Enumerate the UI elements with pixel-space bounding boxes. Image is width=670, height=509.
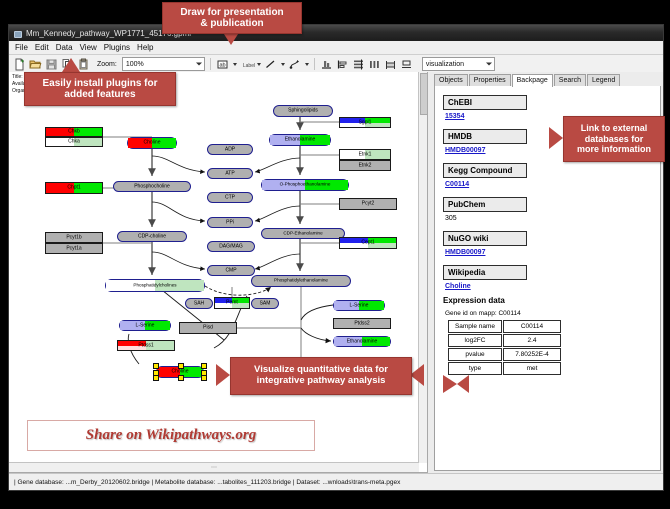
- chevron-down-icon: [196, 63, 202, 66]
- menu-item-data[interactable]: Data: [56, 43, 73, 52]
- db-link-wikipedia[interactable]: Choline: [445, 283, 656, 290]
- row-value: met: [503, 362, 561, 375]
- node-label: DAG/MAG: [208, 244, 254, 249]
- node-fill-segment: [262, 180, 305, 190]
- expression-data-heading: Expression data: [443, 296, 656, 305]
- node-fill-segment: [359, 301, 384, 310]
- node-label: Sphingolipids: [274, 109, 332, 114]
- side-panel-tabs: Objects Properties Backpage Search Legen…: [434, 73, 661, 87]
- callout-visualize-arrow-right-icon: [410, 364, 424, 386]
- tab-legend[interactable]: Legend: [587, 74, 620, 86]
- menu-item-edit[interactable]: Edit: [35, 43, 49, 52]
- save-icon[interactable]: [45, 58, 58, 71]
- zoom-value: 100%: [126, 61, 144, 68]
- db-title-hmdb: HMDB: [443, 129, 527, 144]
- zoom-label: Zoom:: [97, 61, 117, 68]
- gene-node-pcyt2[interactable]: Pcyt2: [339, 198, 397, 210]
- gene-node-pcytlb[interactable]: Pcyt1b: [45, 232, 103, 243]
- node-label: Ptdss2: [334, 321, 390, 326]
- row-key: pvalue: [448, 348, 502, 361]
- metabolite-node-sah[interactable]: SAH: [185, 298, 213, 309]
- metabolite-node-phosphatidylcholines[interactable]: Phosphatidylcholines: [105, 279, 205, 292]
- gene-node-ptdss1[interactable]: Ptdss1: [117, 340, 175, 351]
- align-left-icon[interactable]: [336, 58, 349, 71]
- node-fill-segment: [300, 135, 330, 145]
- svg-text:Label: Label: [243, 63, 255, 69]
- metabolite-node-sphingolipids[interactable]: Sphingolipids: [273, 105, 333, 117]
- callout-draw-line1: Draw for presentation: [180, 7, 283, 19]
- table-row: log2FC 2.4: [448, 334, 561, 347]
- scroll-thumb[interactable]: [420, 73, 428, 115]
- node-fill-segment: [340, 243, 368, 248]
- toolbar-separator: [210, 58, 211, 70]
- row-value: C00114: [503, 320, 561, 333]
- node-fill-segment: [106, 280, 155, 291]
- zoom-combo[interactable]: 100%: [122, 57, 205, 71]
- node-fill-segment: [128, 138, 152, 148]
- callout-draw: Draw for presentation & publication: [162, 2, 302, 34]
- db-value-pubchem: 305: [445, 215, 656, 222]
- chevron-down-icon[interactable]: [281, 63, 285, 66]
- gene-node-pcytla[interactable]: Pcyt1a: [45, 243, 103, 254]
- metabolite-node-dagdag[interactable]: DAG/MAG: [207, 241, 255, 252]
- callout-link: Link to external databases for more info…: [563, 116, 665, 162]
- tab-properties[interactable]: Properties: [469, 74, 511, 86]
- metabolite-node-ctp[interactable]: CTP: [207, 192, 253, 203]
- gene-node-sgpl1[interactable]: Sgpl1: [339, 117, 391, 128]
- node-fill-segment: [157, 367, 180, 377]
- node-label: CTP: [208, 195, 252, 200]
- node-label: PPi: [208, 220, 252, 225]
- node-fill-segment: [46, 128, 74, 136]
- node-fill-segment: [232, 303, 249, 308]
- backpage-entry-kegg: Kegg Compound C00114: [443, 160, 656, 188]
- node-label: Etnk2: [340, 163, 390, 168]
- callout-visualize-arrow-left-icon: [216, 364, 230, 386]
- callout-draw-line2: & publication: [200, 18, 263, 30]
- label-button[interactable]: Label: [240, 58, 253, 71]
- node-fill-segment: [152, 138, 176, 148]
- node-fill-segment: [368, 243, 396, 248]
- callout-link-line1: Link to external: [581, 123, 648, 133]
- expression-data-table: Sample name C00114 log2FC 2.4 pvalue 7.8…: [447, 319, 562, 376]
- gene-node-chkb[interactable]: Chkb: [45, 127, 103, 137]
- title-bar: Mm_Kennedy_pathway_WP1771_45176.gpml: [9, 25, 663, 41]
- gene-node-ptdss2[interactable]: Ptdss2: [333, 318, 391, 329]
- metabolite-node-sam[interactable]: SAM: [251, 298, 279, 309]
- metabolite-node-ethanolamine-right[interactable]: Ethanolamine: [333, 336, 391, 347]
- node-label: Pcyt1b: [46, 235, 102, 240]
- callout-visualize-line2: integrative pathway analysis: [257, 376, 386, 387]
- canvas-vertical-scrollbar[interactable]: [418, 72, 427, 463]
- tab-objects[interactable]: Objects: [434, 74, 468, 86]
- metabolite-node-phosphatidylethanolamine[interactable]: Phosphatidylethanolamine: [251, 275, 351, 287]
- db-title-nugo: NuGO wiki: [443, 231, 527, 246]
- row-value: 7.80252E-4: [503, 348, 561, 361]
- menu-item-view[interactable]: View: [80, 43, 97, 52]
- node-label: ADP: [208, 147, 252, 152]
- metabolite-node-cdp-ethanolamine[interactable]: CDP-Ethanolamine: [261, 228, 345, 239]
- gene-node-pemt[interactable]: Pemt: [214, 297, 250, 309]
- chevron-down-icon: [486, 63, 492, 66]
- gene-node-cept1[interactable]: Cept1: [339, 237, 397, 249]
- pathway-canvas-panel[interactable]: Title: Availa Organi: [9, 72, 428, 473]
- db-title-chebi: ChEBI: [443, 95, 527, 110]
- node-label: CMP: [208, 268, 254, 273]
- new-file-icon[interactable]: [13, 58, 26, 71]
- node-fill-segment: [334, 301, 359, 310]
- metabolite-node-choline-top[interactable]: Choline: [127, 137, 177, 149]
- gene-node-etnk1[interactable]: Etnk1: [339, 149, 391, 160]
- row-key: type: [448, 362, 502, 375]
- row-key: Sample name: [448, 320, 502, 333]
- db-title-kegg: Kegg Compound: [443, 163, 527, 178]
- node-label: Phosphatidylethanolamine: [252, 279, 350, 284]
- interaction-icon[interactable]: [288, 58, 301, 71]
- chevron-down-icon[interactable]: [305, 63, 309, 66]
- selection-handle[interactable]: [178, 375, 184, 381]
- screenshot-root: Mm_Kennedy_pathway_WP1771_45176.gpml Fil…: [0, 0, 670, 509]
- db-link-nugo[interactable]: HMDB00097: [445, 249, 656, 256]
- distribute-icon[interactable]: [368, 58, 381, 71]
- db-title-wikipedia: Wikipedia: [443, 265, 527, 280]
- db-title-pubchem: PubChem: [443, 197, 527, 212]
- metabolite-node-l-serine-right[interactable]: L-Serine: [333, 300, 385, 311]
- node-fill-segment: [270, 135, 300, 145]
- node-label: Pcyt2: [340, 202, 396, 207]
- status-bar: | Gene database: ...m_Derby_20120602.bri…: [9, 473, 663, 490]
- gene-id-on-mapp: Gene id on mapp: C00114: [445, 310, 656, 317]
- metabolite-node-ethanolamine-top[interactable]: Ethanolamine: [269, 134, 331, 146]
- visualization-combo[interactable]: visualization: [422, 57, 495, 71]
- gene-node-chka[interactable]: Chka: [45, 137, 103, 147]
- metabolite-node-adp[interactable]: ADP: [207, 144, 253, 155]
- selection-handle[interactable]: [201, 363, 207, 369]
- stack-vertical-icon[interactable]: [352, 58, 365, 71]
- node-label: SAM: [252, 301, 278, 306]
- callout-link-arrow-icon: [549, 127, 563, 149]
- node-fill-segment: [305, 180, 348, 190]
- toolbar-separator: [314, 58, 315, 70]
- node-fill-segment: [365, 123, 390, 128]
- metabolite-node-atp[interactable]: ATP: [207, 168, 253, 179]
- align-bottom-icon[interactable]: [320, 58, 333, 71]
- callout-plugins-line1: Easily install plugins for: [42, 78, 157, 90]
- selection-handle[interactable]: [178, 363, 184, 369]
- node-fill-segment: [46, 138, 74, 146]
- callout-link-line3: more information: [577, 144, 651, 154]
- callout-expression-arrow-icon: [443, 375, 469, 393]
- share-text: Share on Wikipathways.org: [86, 427, 256, 444]
- node-label: SAH: [186, 301, 212, 306]
- table-row: type met: [448, 362, 561, 375]
- callout-plugins-line2: added features: [64, 89, 135, 101]
- node-fill-segment: [74, 128, 102, 136]
- tab-backpage[interactable]: Backpage: [512, 74, 553, 87]
- node-fill-segment: [365, 150, 390, 159]
- common-width-icon[interactable]: [384, 58, 397, 71]
- backpage-entry-pubchem: PubChem 305: [443, 194, 656, 222]
- menu-item-help[interactable]: Help: [137, 43, 153, 52]
- share-callout: Share on Wikipathways.org: [27, 420, 315, 451]
- metabolite-node-cdp-choline[interactable]: CDP-choline: [117, 231, 187, 242]
- metabolite-node-phosphocholine[interactable]: Phosphocholine: [113, 181, 191, 192]
- node-label: Phosphocholine: [114, 184, 190, 189]
- node-fill-segment: [146, 341, 174, 350]
- node-fill-segment: [120, 321, 145, 330]
- metabolite-node-cmp[interactable]: CMP: [207, 265, 255, 276]
- node-fill-segment: [155, 280, 204, 291]
- node-label: Pcyt1a: [46, 246, 102, 251]
- backpage-entry-wikipedia: Wikipedia Choline: [443, 262, 656, 290]
- node-fill-segment: [215, 303, 232, 308]
- selection-handle[interactable]: [153, 363, 159, 369]
- node-fill-segment: [74, 138, 102, 146]
- node-fill-segment: [340, 150, 365, 159]
- chevron-down-icon[interactable]: [233, 63, 237, 66]
- metabolite-node-ppi[interactable]: PPi: [207, 217, 253, 228]
- db-link-kegg[interactable]: C00114: [445, 181, 656, 188]
- table-row: pvalue 7.80252E-4: [448, 348, 561, 361]
- node-label: Pisd: [180, 326, 236, 331]
- gene-node-etnk2[interactable]: Etnk2: [339, 160, 391, 171]
- menu-bar: File Edit Data View Plugins Help: [9, 41, 663, 55]
- status-text: | Gene database: ...m_Derby_20120602.bri…: [14, 479, 400, 486]
- tab-search[interactable]: Search: [554, 74, 586, 86]
- callout-plugins: Easily install plugins for added feature…: [24, 72, 176, 106]
- backpage-entry-nugo: NuGO wiki HMDB00097: [443, 228, 656, 256]
- callout-link-line2: databases for: [585, 134, 644, 144]
- pathway-canvas[interactable]: Title: Availa Organi: [9, 72, 427, 473]
- node-fill-segment: [118, 346, 146, 351]
- callout-visualize: Visualize quantitative data for integrat…: [230, 357, 412, 395]
- canvas-horizontal-scrollbar[interactable]: ⋯: [9, 462, 419, 472]
- visualization-value: visualization: [426, 61, 464, 68]
- node-label: CDP-Ethanolamine: [262, 231, 344, 236]
- menu-item-file[interactable]: File: [15, 43, 28, 52]
- node-fill-segment: [362, 337, 390, 346]
- selection-handle[interactable]: [153, 375, 159, 381]
- node-fill-segment: [145, 321, 170, 330]
- selection-handle[interactable]: [201, 375, 207, 381]
- row-value: 2.4: [503, 334, 561, 347]
- gene-node-pisd[interactable]: Pisd: [179, 322, 237, 334]
- gene-node-chpt1[interactable]: Chpt1: [45, 182, 103, 194]
- row-key: log2FC: [448, 334, 502, 347]
- metabolite-node-o-phosphoethanolamine[interactable]: O-Phosphoethanolamine: [261, 179, 349, 191]
- line-icon[interactable]: [264, 58, 277, 71]
- menu-item-plugins[interactable]: Plugins: [104, 43, 130, 52]
- node-label: ATP: [208, 171, 252, 176]
- app-logo-icon: [13, 29, 22, 38]
- text-label-icon[interactable]: ab: [216, 58, 229, 71]
- common-height-icon[interactable]: [400, 58, 413, 71]
- node-fill-segment: [340, 123, 365, 128]
- node-fill-segment: [46, 183, 74, 193]
- node-label: CDP-choline: [118, 234, 186, 239]
- table-row: Sample name C00114: [448, 320, 561, 333]
- node-fill-segment: [334, 337, 362, 346]
- node-fill-segment: [74, 183, 102, 193]
- metabolite-node-l-serine-left[interactable]: L-Serine: [119, 320, 171, 331]
- callout-plugins-arrow-icon: [62, 58, 80, 72]
- svg-text:ab: ab: [219, 62, 225, 68]
- open-folder-icon[interactable]: [29, 58, 42, 71]
